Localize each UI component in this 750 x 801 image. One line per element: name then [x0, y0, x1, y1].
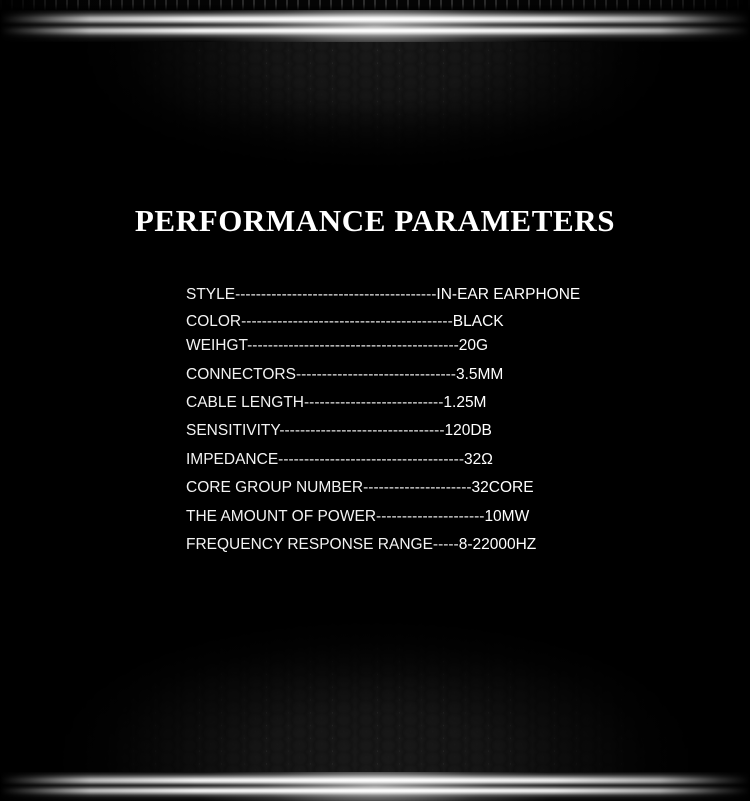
spec-label: CONNECTORS — [186, 366, 296, 383]
spec-row-weight: WEIHGT----------------------------------… — [186, 338, 488, 354]
spec-value: 8-22000HZ — [459, 536, 537, 553]
spec-leader: --------------------- — [376, 508, 484, 525]
spec-value: 20G — [459, 337, 488, 354]
spec-value: 3.5MM — [456, 366, 503, 383]
spec-label: WEIHGT — [186, 337, 247, 354]
spec-leader: -------------------------------- — [279, 422, 444, 439]
spec-row-cable-length: CABLE LENGTH---------------------------1… — [186, 395, 486, 411]
page-title: PERFORMANCE PARAMETERS — [0, 203, 750, 239]
spec-value: 10MW — [484, 508, 529, 525]
spec-leader: --------------------------------------- — [235, 286, 436, 303]
spec-row-style: STYLE-----------------------------------… — [186, 287, 580, 303]
spec-row-amount-of-power: THE AMOUNT OF POWER---------------------… — [186, 509, 529, 525]
spec-value: 32CORE — [472, 479, 534, 496]
spec-value: BLACK — [453, 313, 504, 330]
spec-leader: ----------------------------------------… — [247, 337, 459, 354]
spec-leader: --------------------- — [363, 479, 471, 496]
spec-value: 32Ω — [464, 451, 493, 468]
spec-label: IMPEDANCE — [186, 451, 278, 468]
spec-label: THE AMOUNT OF POWER — [186, 508, 376, 525]
spec-value: 120DB — [445, 422, 492, 439]
spec-label: CORE GROUP NUMBER — [186, 479, 363, 496]
spec-content: PERFORMANCE PARAMETERS STYLE------------… — [0, 0, 750, 801]
spec-label: FREQUENCY RESPONSE RANGE — [186, 536, 433, 553]
spec-value: IN-EAR EARPHONE — [436, 286, 580, 303]
spec-leader: ------------------------------------ — [278, 451, 464, 468]
spec-leader: ----- — [433, 536, 459, 553]
spec-label: SENSITIVITY — [186, 422, 279, 439]
product-spec-card: PERFORMANCE PARAMETERS STYLE------------… — [0, 0, 750, 801]
spec-row-color: COLOR-----------------------------------… — [186, 314, 504, 330]
spec-row-core-group-number: CORE GROUP NUMBER---------------------32… — [186, 480, 534, 496]
spec-label: STYLE — [186, 286, 235, 303]
spec-leader: ----------------------------------------… — [241, 313, 453, 330]
spec-value: 1.25M — [443, 394, 486, 411]
spec-leader: ------------------------------- — [296, 366, 456, 383]
spec-leader: --------------------------- — [304, 394, 443, 411]
spec-row-frequency-response-range: FREQUENCY RESPONSE RANGE-----8-22000HZ — [186, 537, 536, 553]
spec-row-impedance: IMPEDANCE-------------------------------… — [186, 452, 493, 468]
spec-label: CABLE LENGTH — [186, 394, 304, 411]
spec-label: COLOR — [186, 313, 241, 330]
spec-row-connectors: CONNECTORS------------------------------… — [186, 367, 503, 383]
spec-row-sensitivity: SENSITIVITY-----------------------------… — [186, 423, 492, 439]
